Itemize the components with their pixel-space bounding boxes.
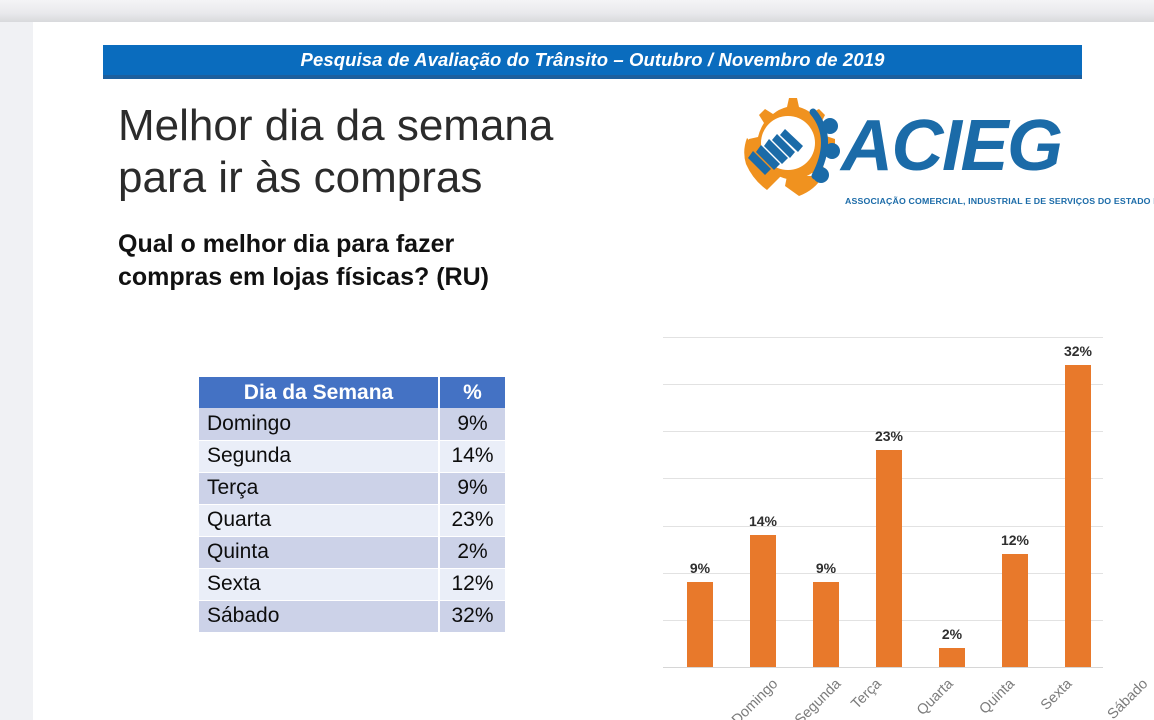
table-cell-day: Quarta — [199, 504, 439, 536]
chart-bar — [813, 582, 839, 667]
chart-category-label: Segunda — [792, 676, 844, 720]
chart-bar-value-label: 2% — [922, 626, 982, 642]
chart-bar-value-label: 32% — [1048, 343, 1108, 359]
banner-title: Pesquisa de Avaliação do Trânsito – Outu… — [301, 49, 885, 71]
chart-gridline — [663, 337, 1103, 338]
chart-category-label: Terça — [848, 676, 884, 712]
table-row: Quarta23% — [199, 504, 505, 536]
window-top-strip — [0, 0, 1154, 22]
acieg-gear-icon — [727, 90, 847, 208]
slide-page: Pesquisa de Avaliação do Trânsito – Outu… — [0, 0, 1154, 720]
table-cell-pct: 9% — [439, 408, 505, 440]
chart-bar — [687, 582, 713, 667]
chart-bar — [876, 450, 902, 667]
table-cell-pct: 12% — [439, 568, 505, 600]
chart-category-label: Quinta — [977, 676, 1019, 718]
chart-bar-value-label: 9% — [796, 560, 856, 576]
survey-banner: Pesquisa de Avaliação do Trânsito – Outu… — [103, 45, 1082, 79]
table-cell-pct: 14% — [439, 440, 505, 472]
table-row: Terça9% — [199, 472, 505, 504]
question-subtitle: Qual o melhor dia para fazer compras em … — [118, 228, 638, 295]
question-subtitle-line-2: compras em lojas físicas? (RU) — [118, 261, 638, 294]
table-cell-day: Segunda — [199, 440, 439, 472]
table-row: Quinta2% — [199, 536, 505, 568]
chart-bar-value-label: 12% — [985, 532, 1045, 548]
chart-bar — [1065, 365, 1091, 667]
question-subtitle-line-1: Qual o melhor dia para fazer — [118, 228, 638, 261]
table-header-pct: % — [439, 377, 505, 408]
chart-bar-value-label: 9% — [670, 560, 730, 576]
chart-bar-value-label: 14% — [733, 513, 793, 529]
page-title-line-1: Melhor dia da semana — [118, 100, 638, 152]
slide-canvas: Pesquisa de Avaliação do Trânsito – Outu… — [33, 22, 1154, 720]
results-table: Dia da Semana % Domingo9%Segunda14%Terça… — [199, 377, 505, 633]
chart-bar — [939, 648, 965, 667]
table-row: Segunda14% — [199, 440, 505, 472]
table-header-row: Dia da Semana % — [199, 377, 505, 408]
table-cell-day: Sábado — [199, 600, 439, 632]
page-title: Melhor dia da semana para ir às compras — [118, 100, 638, 205]
table-cell-pct: 2% — [439, 536, 505, 568]
bar-chart: 9%Domingo14%Segunda9%Terça23%Quarta2%Qui… — [638, 322, 1108, 720]
table-header-day: Dia da Semana — [199, 377, 439, 408]
page-title-line-2: para ir às compras — [118, 152, 638, 204]
acieg-logo: ACIEG ASSOCIAÇÃO COMERCIAL, INDUSTRIAL E… — [693, 84, 1093, 224]
chart-bar-value-label: 23% — [859, 428, 919, 444]
table-row: Domingo9% — [199, 408, 505, 440]
acieg-wordmark: ACIEG — [841, 110, 1062, 182]
table-cell-pct: 9% — [439, 472, 505, 504]
table-row: Sexta12% — [199, 568, 505, 600]
chart-category-label: Sábado — [1105, 676, 1152, 720]
chart-category-label: Quarta — [914, 676, 957, 719]
chart-category-label: Domingo — [729, 676, 781, 720]
acieg-tagline: ASSOCIAÇÃO COMERCIAL, INDUSTRIAL E DE SE… — [845, 196, 1154, 206]
chart-plot-area: 9%Domingo14%Segunda9%Terça23%Quarta2%Qui… — [663, 337, 1103, 667]
table-row: Sábado32% — [199, 600, 505, 632]
table-cell-pct: 23% — [439, 504, 505, 536]
chart-axis-line — [663, 667, 1103, 668]
table-cell-day: Terça — [199, 472, 439, 504]
table-cell-day: Sexta — [199, 568, 439, 600]
chart-category-label: Sexta — [1038, 676, 1076, 714]
chart-gridline — [663, 384, 1103, 385]
table-cell-pct: 32% — [439, 600, 505, 632]
page-left-gutter — [0, 22, 33, 720]
chart-bar — [750, 535, 776, 667]
chart-bar — [1002, 554, 1028, 667]
table-cell-day: Quinta — [199, 536, 439, 568]
table-cell-day: Domingo — [199, 408, 439, 440]
